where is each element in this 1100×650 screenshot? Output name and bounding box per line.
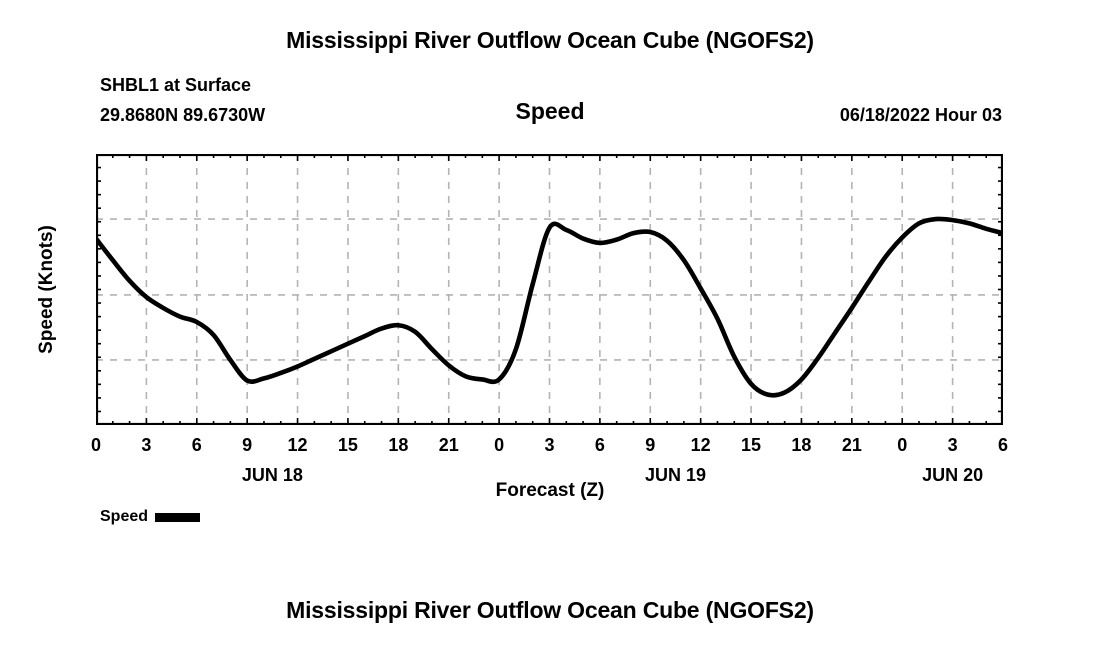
x-tick-label: 21 — [439, 436, 459, 454]
x-tick-label: 3 — [544, 436, 554, 454]
x-tick-label: 6 — [595, 436, 605, 454]
x-tick-label: 15 — [741, 436, 761, 454]
legend-item-label: Speed — [100, 509, 148, 525]
page-title-bottom: Mississippi River Outflow Ocean Cube (NG… — [0, 597, 1100, 624]
x-tick-label: 21 — [842, 436, 862, 454]
x-tick-label: 3 — [948, 436, 958, 454]
plot-area: Speed (Knots) 0.000.060.120.190.25 03691… — [96, 154, 1003, 425]
gridlines — [96, 154, 1003, 425]
speed-line-chart — [96, 154, 1003, 425]
legend-color-swatch — [155, 513, 200, 522]
x-tick-label: 18 — [388, 436, 408, 454]
x-tick-label: 18 — [791, 436, 811, 454]
chart-page: Mississippi River Outflow Ocean Cube (NG… — [0, 0, 1100, 650]
x-tick-label: 0 — [897, 436, 907, 454]
x-tick-label: 9 — [242, 436, 252, 454]
y-axis-label: Speed (Knots) — [34, 154, 60, 425]
x-tick-label: 0 — [494, 436, 504, 454]
x-tick-label: 0 — [91, 436, 101, 454]
x-tick-label: 12 — [691, 436, 711, 454]
page-title-top: Mississippi River Outflow Ocean Cube (NG… — [0, 27, 1100, 54]
x-tick-label: 12 — [288, 436, 308, 454]
x-tick-label: 15 — [338, 436, 358, 454]
x-tick-label: 6 — [192, 436, 202, 454]
x-axis-label: Forecast (Z) — [0, 480, 1100, 502]
forecast-datetime-label: 06/18/2022 Hour 03 — [840, 105, 1002, 126]
x-tick-label: 6 — [998, 436, 1008, 454]
station-label: SHBL1 at Surface — [100, 75, 251, 96]
x-tick-label: 9 — [645, 436, 655, 454]
x-tick-label: 3 — [141, 436, 151, 454]
chart-legend: Speed — [100, 509, 200, 525]
